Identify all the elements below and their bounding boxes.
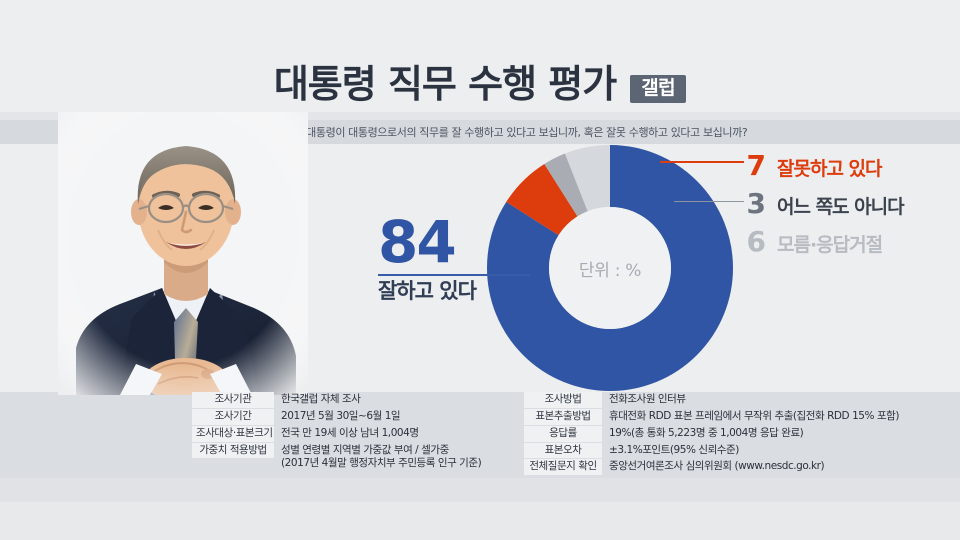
legend-item-disapprove: 7 잘못하고 있다	[746, 152, 882, 180]
row-key: 전체질문지 확인	[524, 459, 602, 475]
legend-label-dontknow: 모름·응답거절	[777, 236, 882, 255]
row-key: 조사대상·표본크기	[192, 426, 274, 442]
methodology-table-right: 조사방법 전화조사원 인터뷰 표본추출방법 휴대전화 RDD 표본 프레임에서 …	[524, 392, 899, 476]
row-key: 조사기간	[192, 409, 274, 425]
table-row: 조사방법 전화조사원 인터뷰	[524, 392, 899, 408]
row-value: 전화조사원 인터뷰	[602, 392, 686, 408]
footer-band-lower	[0, 478, 960, 502]
approval-figure: 84 잘하고 있다	[378, 216, 538, 303]
row-value: 19%(총 통화 5,223명 중 1,004명 응답 완료)	[602, 426, 803, 442]
legend-item-neither: 3 어느 쪽도 아니다	[746, 190, 904, 218]
donut-hole	[549, 207, 671, 329]
table-row: 조사기간 2017년 5월 30일~6월 1일	[192, 409, 481, 425]
legend-value-neither: 3	[746, 190, 766, 218]
row-value: ±3.1%포인트(95% 신뢰수준)	[602, 443, 739, 459]
row-key: 가중치 적용방법	[192, 443, 274, 459]
table-row: 응답률 19%(총 통화 5,223명 중 1,004명 응답 완료)	[524, 426, 899, 442]
legend-item-dontknow: 6 모름·응답거절	[746, 228, 882, 256]
legend-value-disapprove: 7	[746, 152, 766, 180]
table-row: 조사기관 한국갤럽 자체 조사	[192, 392, 481, 408]
row-value: 2017년 5월 30일~6월 1일	[274, 409, 400, 425]
row-value: 한국갤럽 자체 조사	[274, 392, 360, 408]
table-row: 전체질문지 확인 중앙선거여론조사 심의위원회 (www.nesdc.go.kr…	[524, 459, 899, 475]
row-key: 조사방법	[524, 392, 602, 408]
approval-value: 84	[378, 216, 538, 269]
row-value: 중앙선거여론조사 심의위원회 (www.nesdc.go.kr)	[602, 459, 824, 475]
row-key: 응답률	[524, 426, 602, 442]
row-key: 조사기관	[192, 392, 274, 408]
bottom-band	[0, 502, 960, 540]
row-value: 전국 만 19세 이상 남녀 1,004명	[274, 426, 419, 442]
president-portrait	[58, 112, 308, 395]
title-bar: 대통령 직무 수행 평가 갤럽	[0, 58, 960, 110]
infographic-canvas: 대통령 직무 수행 평가 갤럽 질문 : 귀하는 문재인 대통령이 대통령으로서…	[0, 0, 960, 540]
legend-label-disapprove: 잘못하고 있다	[777, 160, 882, 179]
brand-badge: 갤럽	[630, 75, 686, 103]
methodology-table-left: 조사기관 한국갤럽 자체 조사 조사기간 2017년 5월 30일~6월 1일 …	[192, 392, 481, 473]
table-row: 조사대상·표본크기 전국 만 19세 이상 남녀 1,004명	[192, 426, 481, 442]
row-key: 표본추출방법	[524, 409, 602, 425]
row-value: 휴대전화 RDD 표본 프레임에서 무작위 추출(집전화 RDD 15% 포함)	[602, 409, 899, 425]
page-title: 대통령 직무 수행 평가	[274, 65, 616, 103]
legend-value-dontknow: 6	[746, 228, 766, 256]
leader-line-disapprove	[660, 161, 744, 163]
table-row: 표본추출방법 휴대전화 RDD 표본 프레임에서 무작위 추출(집전화 RDD …	[524, 409, 899, 425]
table-row: 가중치 적용방법 성별 연령별 지역별 가중값 부여 / 셀가중 (2017년 …	[192, 443, 481, 473]
leader-line-neither	[674, 201, 744, 202]
row-key: 표본오차	[524, 443, 602, 459]
table-row: 표본오차 ±3.1%포인트(95% 신뢰수준)	[524, 443, 899, 459]
legend-label-neither: 어느 쪽도 아니다	[777, 198, 904, 217]
row-value: 성별 연령별 지역별 가중값 부여 / 셀가중 (2017년 4월말 행정자치부…	[274, 443, 481, 473]
approval-label: 잘하고 있다	[378, 280, 538, 303]
